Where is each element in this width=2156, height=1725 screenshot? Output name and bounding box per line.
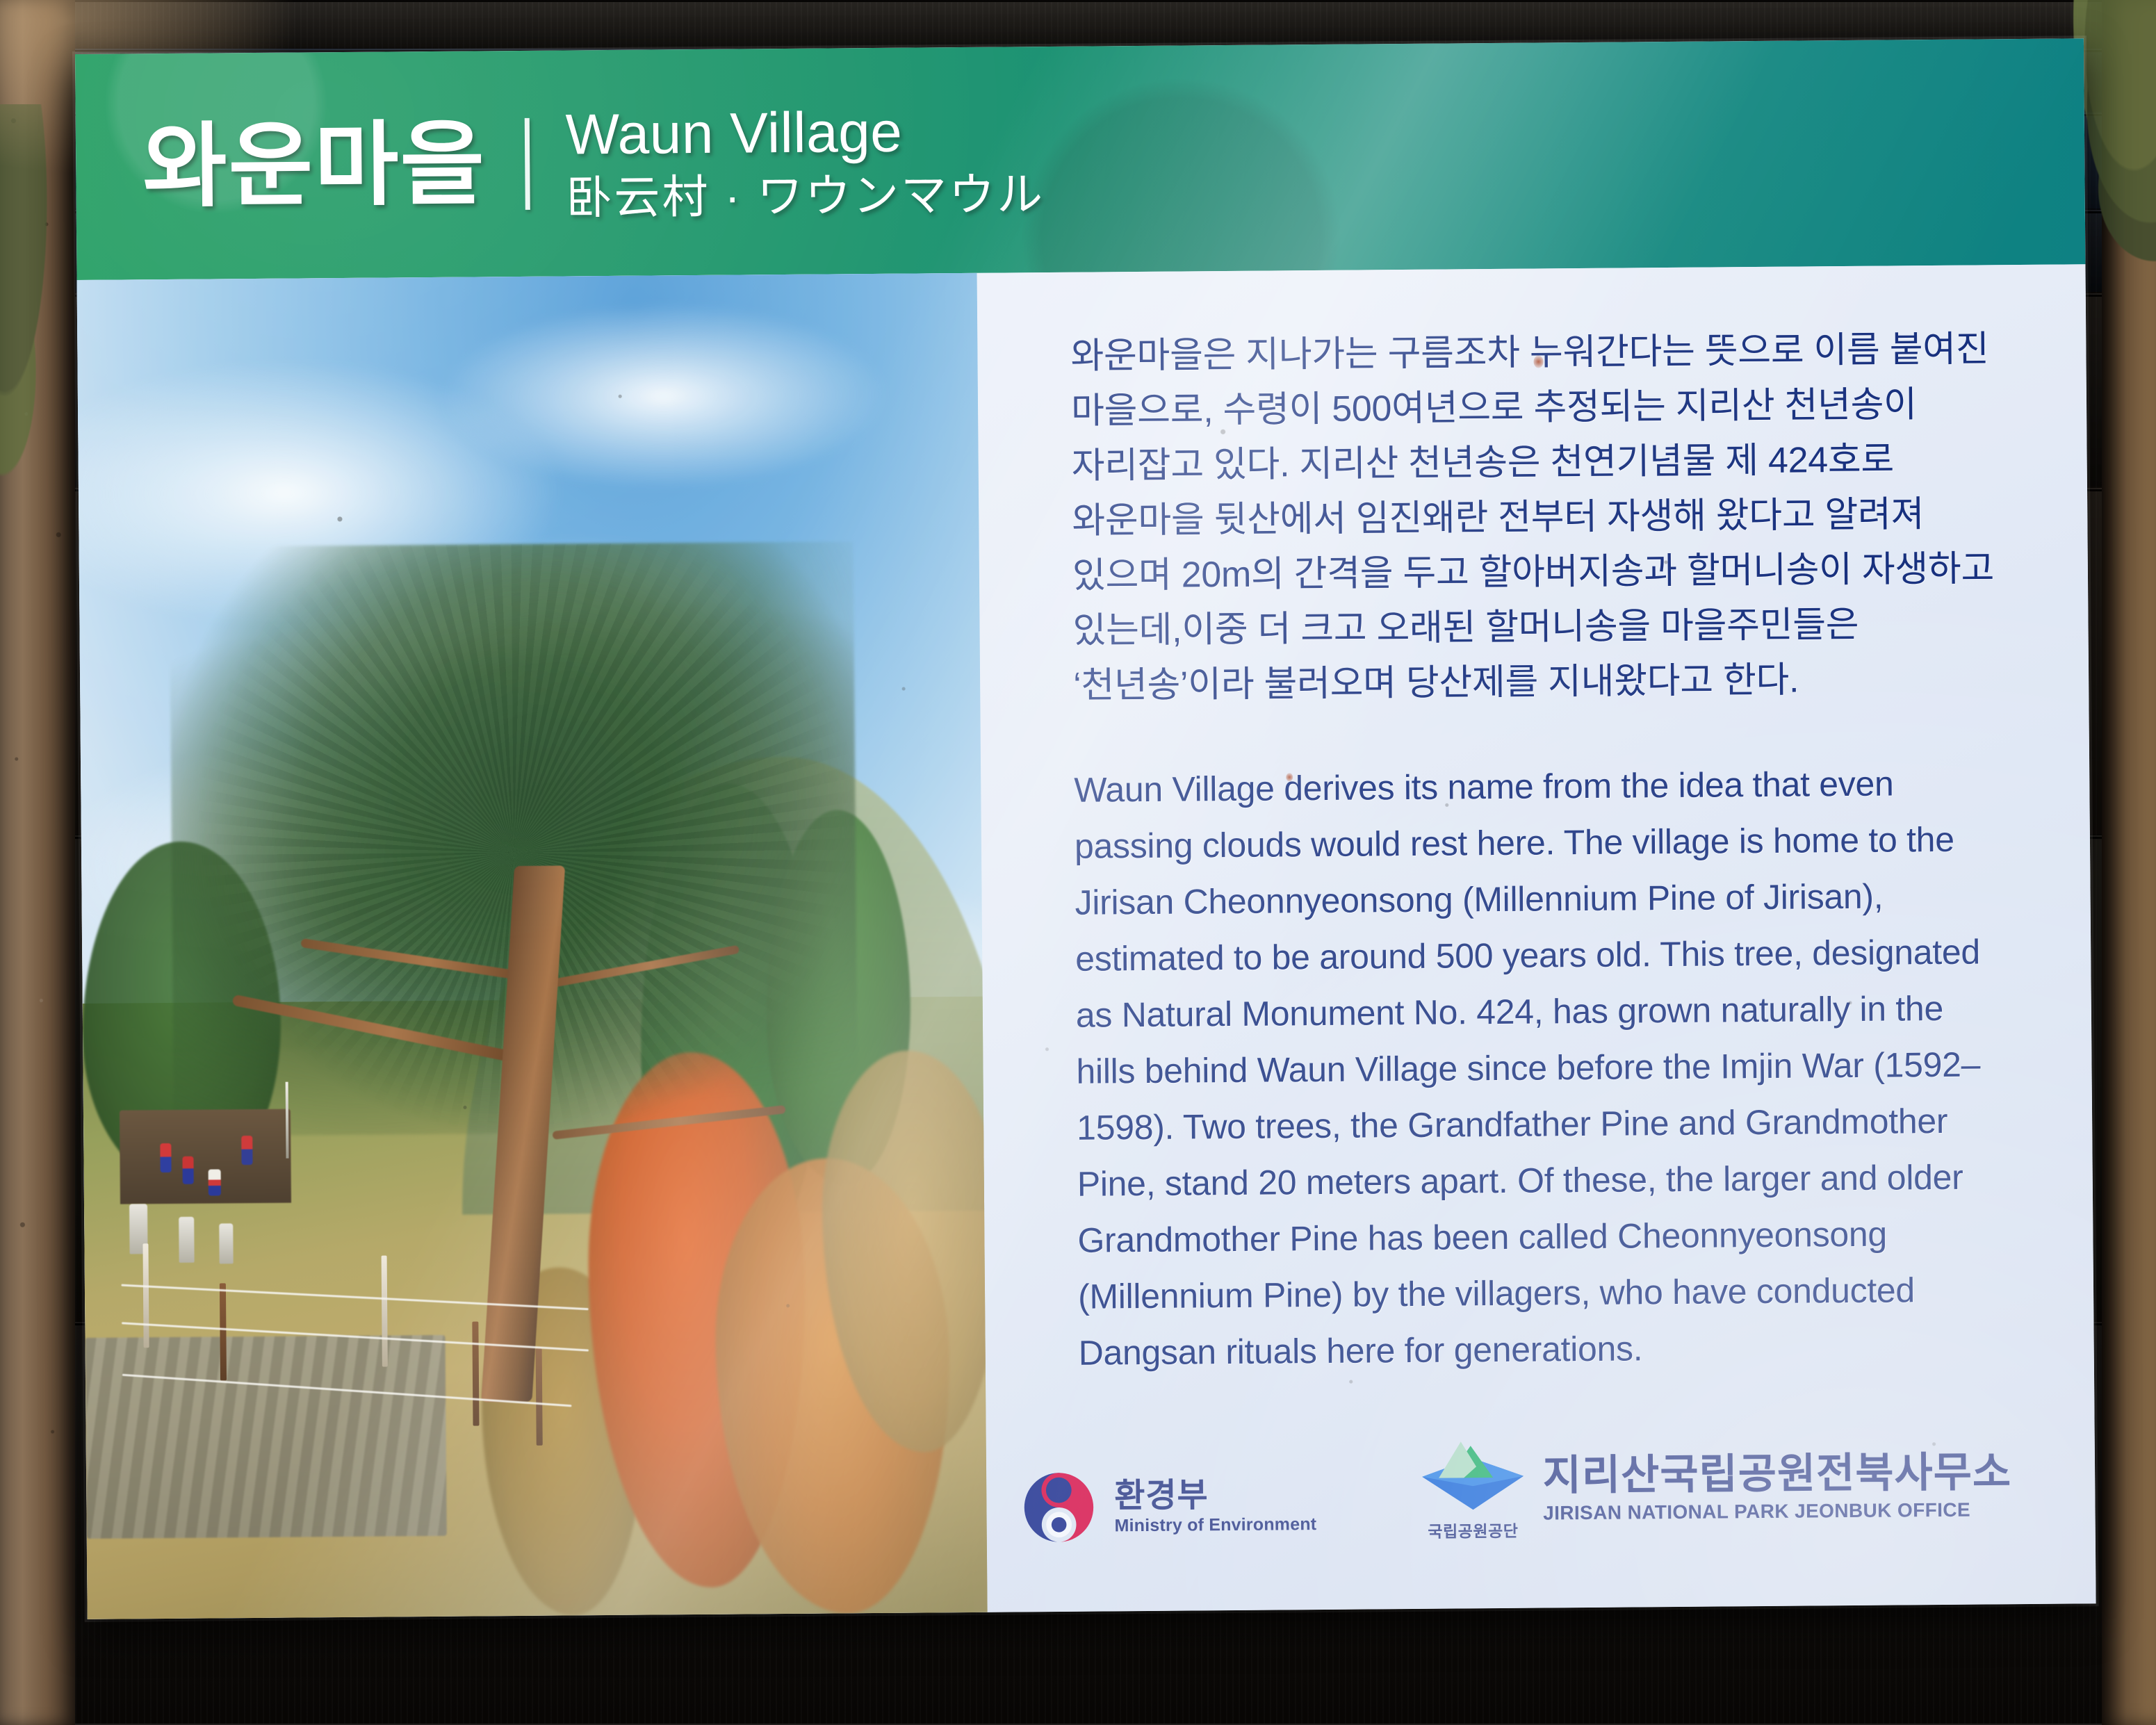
- park-office-name-korean: 지리산국립공원전북사무소: [1542, 1451, 2011, 1496]
- fence-post: [143, 1244, 149, 1348]
- sign-title-korean: 와운마을: [142, 118, 487, 213]
- sign-title-cjk: 卧云村 · ワウンマウル: [566, 171, 1045, 220]
- sign-header-band: 와운마을 Waun Village 卧云村 · ワウンマウル: [75, 38, 2085, 280]
- pavilion-structure: [120, 1109, 291, 1204]
- sign-title-english: Waun Village: [565, 103, 1044, 163]
- stone-marker: [219, 1223, 233, 1264]
- fence-post: [220, 1284, 227, 1381]
- taegeuk-icon: [1021, 1470, 1097, 1546]
- logo-row: 환경부 Ministry of Environment: [179, 1433, 2012, 1552]
- fence-post: [472, 1322, 479, 1426]
- visitor-figure: [160, 1143, 171, 1172]
- knps-subtitle-korean: 국립공원공단: [1428, 1518, 1518, 1542]
- visitor-figure: [208, 1170, 220, 1196]
- rust-spot: [1286, 773, 1293, 781]
- ministry-of-environment-logo: 환경부 Ministry of Environment: [1021, 1468, 1317, 1545]
- sign-text-panel: 와운마을은 지나가는 구름조차 누워간다는 뜻으로 이름 붙여진 마을으로, 수…: [977, 264, 2096, 1612]
- fence-post: [382, 1255, 388, 1366]
- outdoor-scene: 와운마을 Waun Village 卧云村 · ワウンマウル: [0, 0, 2156, 1725]
- sign-body: 와운마을은 지나가는 구름조차 누워간다는 뜻으로 이름 붙여진 마을으로, 수…: [77, 264, 2096, 1619]
- park-office-name-english: JIRISAN NATIONAL PARK JEONBUK OFFICE: [1543, 1500, 2012, 1523]
- description-english: Waun Village derives its name from the i…: [1074, 755, 2002, 1382]
- description-korean: 와운마을은 지나가는 구름조차 누워간다는 뜻으로 이름 붙여진 마을으로, 수…: [1070, 322, 1997, 714]
- ministry-name-korean: 환경부: [1114, 1478, 1316, 1513]
- stone-marker: [179, 1217, 195, 1263]
- information-sign-board: 와운마을 Waun Village 卧云村 · ワウンマウル: [75, 38, 2096, 1619]
- title-divider: [525, 117, 530, 209]
- flagpole: [286, 1082, 289, 1159]
- jirisan-national-park-logo: 국립공원공단 지리산국립공원전북사무소 JIRISAN NATIONAL PAR…: [1420, 1433, 2012, 1542]
- ministry-name-english: Ministry of Environment: [1114, 1516, 1316, 1535]
- mountain-wave-icon: [1420, 1437, 1525, 1513]
- fence-post: [535, 1348, 542, 1445]
- visitor-figure: [241, 1136, 252, 1165]
- visitor-figure: [183, 1156, 194, 1184]
- jirisan-millennium-pine-photo: [77, 273, 988, 1619]
